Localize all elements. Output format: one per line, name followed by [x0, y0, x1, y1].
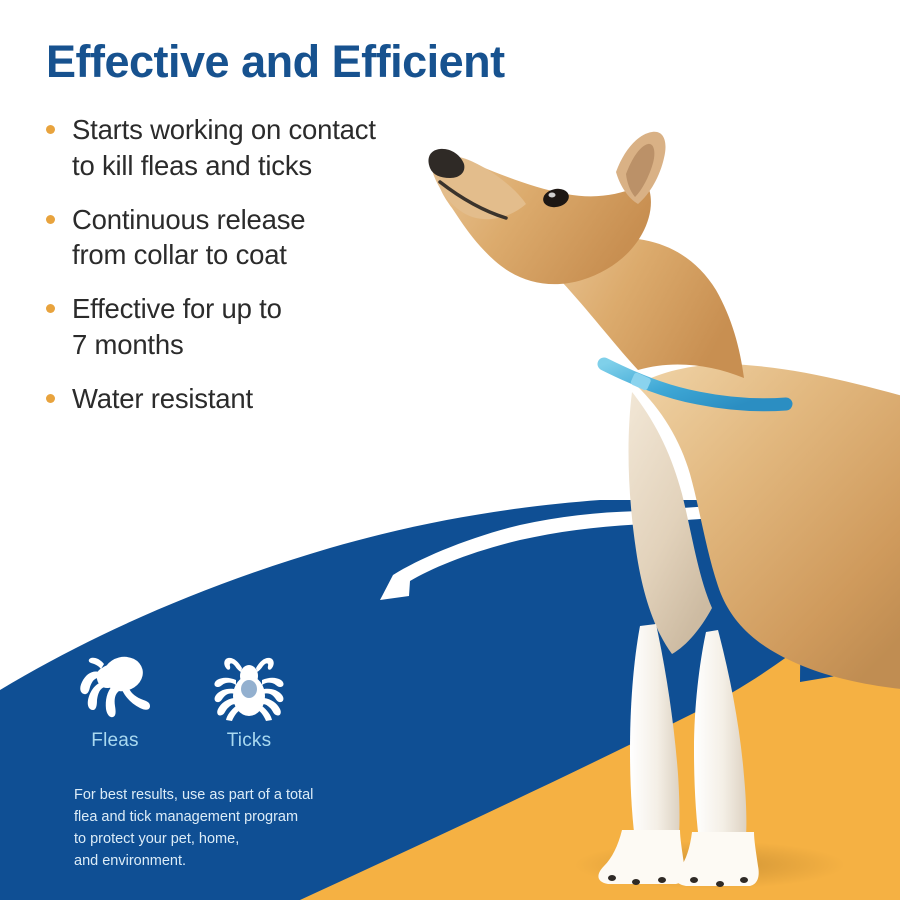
- bullet-dot-icon: [46, 304, 55, 313]
- flea-icon: [78, 652, 152, 722]
- list-item: Effective for up to 7 months: [40, 291, 510, 363]
- bullet-dot-icon: [46, 125, 55, 134]
- bullet-dot-icon: [46, 215, 55, 224]
- dog-front-leg-left: [630, 624, 680, 848]
- dog-front-leg-right: [694, 630, 746, 848]
- pest-icon-row: Fleas: [72, 652, 292, 752]
- footer-disclaimer: For best results, use as part of a total…: [74, 784, 404, 872]
- tick-icon: [212, 652, 286, 722]
- bullet-text: Water resistant: [72, 381, 510, 417]
- page-title: Effective and Efficient: [46, 38, 505, 85]
- bullet-text: Continuous release from collar to coat: [72, 202, 510, 274]
- bullet-text: Effective for up to 7 months: [72, 291, 510, 363]
- list-item: Continuous release from collar to coat: [40, 202, 510, 274]
- list-item: Starts working on contact to kill fleas …: [40, 112, 510, 184]
- product-feature-card: Effective and Efficient Starts working o…: [0, 0, 900, 900]
- pest-label: Fleas: [91, 730, 138, 752]
- dog-eye-highlight: [549, 193, 556, 198]
- pest-item-ticks: Ticks: [206, 652, 292, 752]
- bullet-dot-icon: [46, 394, 55, 403]
- bullet-text: Starts working on contact to kill fleas …: [72, 112, 510, 184]
- feature-bullet-list: Starts working on contact to kill fleas …: [40, 112, 510, 434]
- pest-label: Ticks: [227, 730, 272, 752]
- pest-item-fleas: Fleas: [72, 652, 158, 752]
- list-item: Water resistant: [40, 381, 510, 417]
